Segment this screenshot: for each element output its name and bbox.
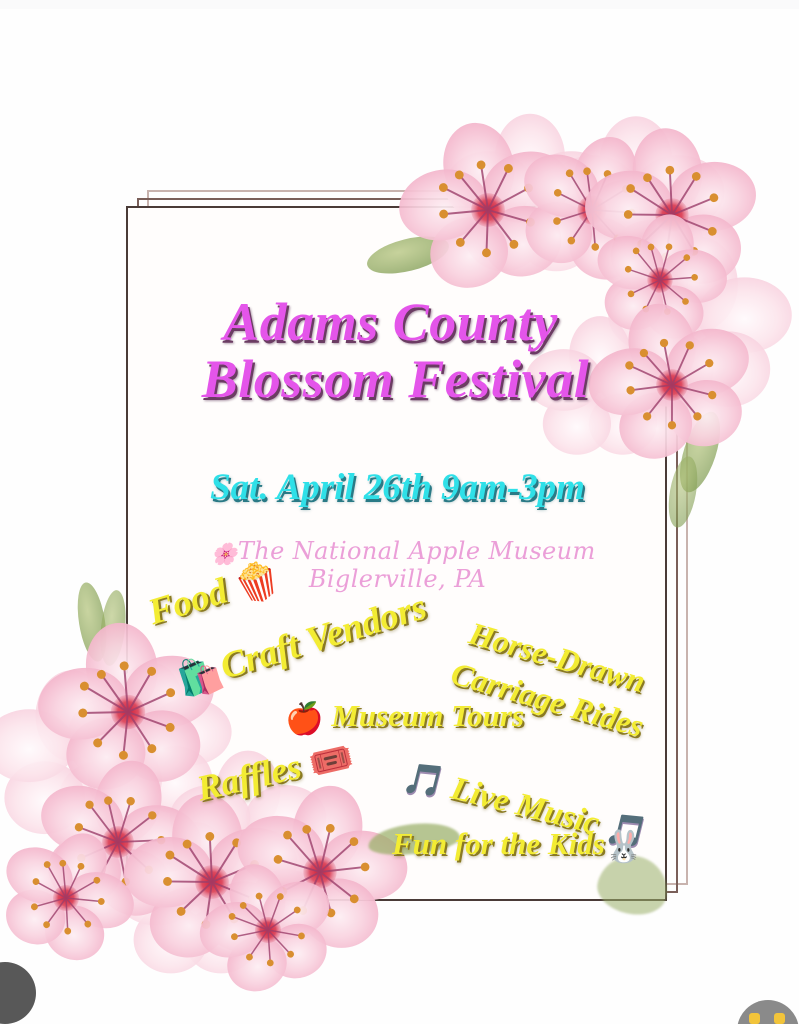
flyer-title: Adams County Blossom Festival [0,294,799,407]
rabbit-face-icon: 🐰 [605,829,644,864]
venue-city: Biglerville, PA [0,566,799,594]
activity-museum-tours: 🍎 Museum Tours [285,698,524,737]
activity-museum-tours-label: Museum Tours [331,698,524,733]
event-date-time: Sat. April 26th 9am-3pm [0,466,797,509]
red-apple-icon: 🍎 [285,701,324,736]
title-line-1: Adams County [0,294,799,351]
screen-top-band [0,0,799,9]
activity-fun-for-the-kids-label: Fun for the Kids [392,826,605,861]
cherry-blossom-icon: 🌸 [211,542,238,566]
title-line-2: Blossom Festival [0,351,799,408]
avatar-eye-right [774,1013,785,1024]
venue-name: The National Apple Museum [238,537,596,565]
event-venue: 🌸The National Apple Museum Biglerville, … [0,538,799,594]
avatar-eye-left [749,1013,760,1024]
admission-ticket-icon: 🎟️ [305,737,358,786]
festival-flyer-image: Adams County Blossom Festival Sat. April… [0,0,799,1024]
activity-fun-for-the-kids: Fun for the Kids🐰 [392,826,643,865]
venue-name-line: 🌸The National Apple Museum [8,538,799,566]
